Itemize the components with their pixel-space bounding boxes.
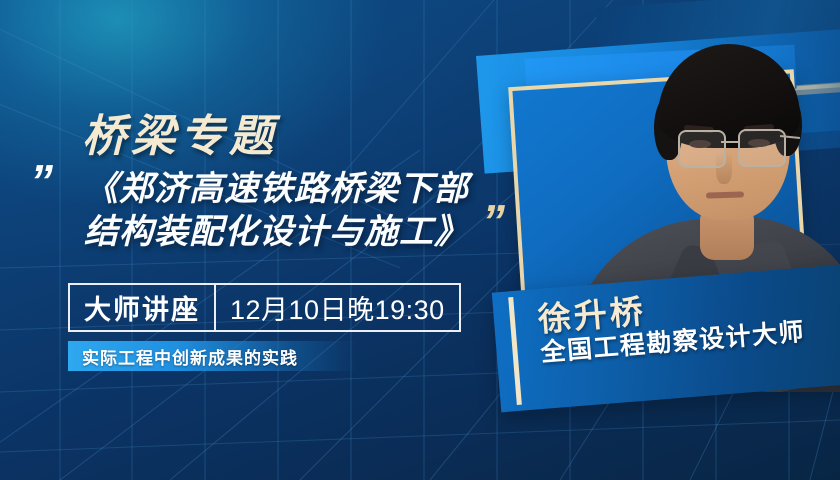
poster-title: 《郑济高速铁路桥梁下部 结构装配化设计与施工》 — [84, 168, 504, 254]
lecture-poster: 徐升桥 全国工程勘察设计大师 桥梁专题 ” ” 《郑济高速铁路桥梁下部 结构装配… — [0, 0, 840, 480]
glasses-lens-left — [678, 130, 726, 168]
lecture-info-box: 大师讲座 12月10日晚19:30 — [68, 283, 461, 332]
lecture-type-label: 大师讲座 — [70, 285, 214, 330]
lecture-datetime: 12月10日晚19:30 — [216, 285, 459, 330]
glasses-lens-right — [738, 129, 786, 167]
poster-title-line-2: 结构装配化设计与施工》 — [84, 211, 504, 254]
poster-title-line-1: 《郑济高速铁路桥梁下部 — [84, 168, 504, 211]
poster-kicker: 桥梁专题 — [82, 100, 278, 164]
glasses-bridge — [721, 141, 739, 143]
speaker-nameplate-text: 徐升桥 全国工程勘察设计大师 — [537, 277, 840, 367]
poster-tagline-bar: 实际工程中创新成果的实践 — [68, 341, 358, 371]
quote-open-icon: ” — [30, 158, 53, 204]
poster-tagline: 实际工程中创新成果的实践 — [68, 344, 298, 369]
